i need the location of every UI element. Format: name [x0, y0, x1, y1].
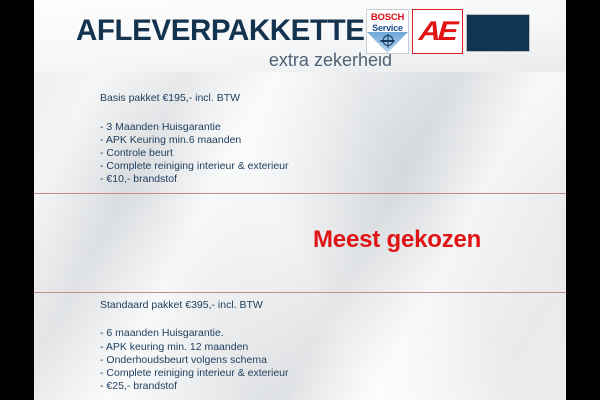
poster-header: AFLEVERPAKKETTEN extra zekerheid BOSCH S… [34, 0, 566, 72]
package-basis-feature-list: - 3 Maanden Huisgarantie - APK Keuring m… [100, 121, 566, 186]
bosch-armature-icon [382, 35, 393, 46]
list-item: - Onderhoudsbeurt volgens schema [100, 354, 566, 367]
page-subtitle: extra zekerheid [76, 51, 392, 69]
divider-line-2 [34, 292, 566, 293]
navy-placeholder-block [466, 14, 530, 52]
package-standaard-title: Standaard pakket €395,- incl. BTW [100, 300, 566, 311]
list-item: - Complete reiniging interieur & exterie… [100, 367, 566, 380]
ae-wordmark: AE [418, 18, 456, 45]
letterbox-bar-right [566, 0, 600, 400]
package-basis: Basis pakket €195,- incl. BTW - 3 Maande… [100, 93, 566, 186]
list-item: - €25,- brandstof [100, 380, 566, 393]
page-title: AFLEVERPAKKETTEN [76, 16, 392, 46]
logo-strip: BOSCH Service AE [366, 9, 530, 56]
list-item: - Complete reiniging interieur & exterie… [100, 160, 566, 173]
status-badge-most-chosen: Meest gekozen [313, 228, 481, 252]
bosch-service-label: Service [367, 24, 408, 33]
package-basis-title: Basis pakket €195,- incl. BTW [100, 93, 566, 104]
list-item: - 3 Maanden Huisgarantie [100, 121, 566, 134]
poster-root: AFLEVERPAKKETTEN extra zekerheid BOSCH S… [0, 0, 600, 400]
title-block: AFLEVERPAKKETTEN extra zekerheid [76, 16, 392, 69]
bosch-service-logo: BOSCH Service [366, 9, 409, 54]
list-item: - Controle beurt [100, 147, 566, 160]
list-item: - 6 maanden Huisgarantie. [100, 327, 566, 340]
package-standaard: Standaard pakket €395,- incl. BTW - 6 ma… [100, 300, 566, 393]
package-standaard-feature-list: - 6 maanden Huisgarantie. - APK keuring … [100, 327, 566, 392]
ae-logo: AE [412, 9, 463, 54]
letterbox-bar-left [0, 0, 34, 400]
list-item: - €10,- brandstof [100, 173, 566, 186]
bosch-wordmark: BOSCH [367, 13, 408, 23]
poster-canvas: AFLEVERPAKKETTEN extra zekerheid BOSCH S… [34, 0, 566, 400]
divider-line-1 [34, 193, 566, 194]
list-item: - APK keuring min. 12 maanden [100, 341, 566, 354]
list-item: - APK Keuring min.6 maanden [100, 134, 566, 147]
